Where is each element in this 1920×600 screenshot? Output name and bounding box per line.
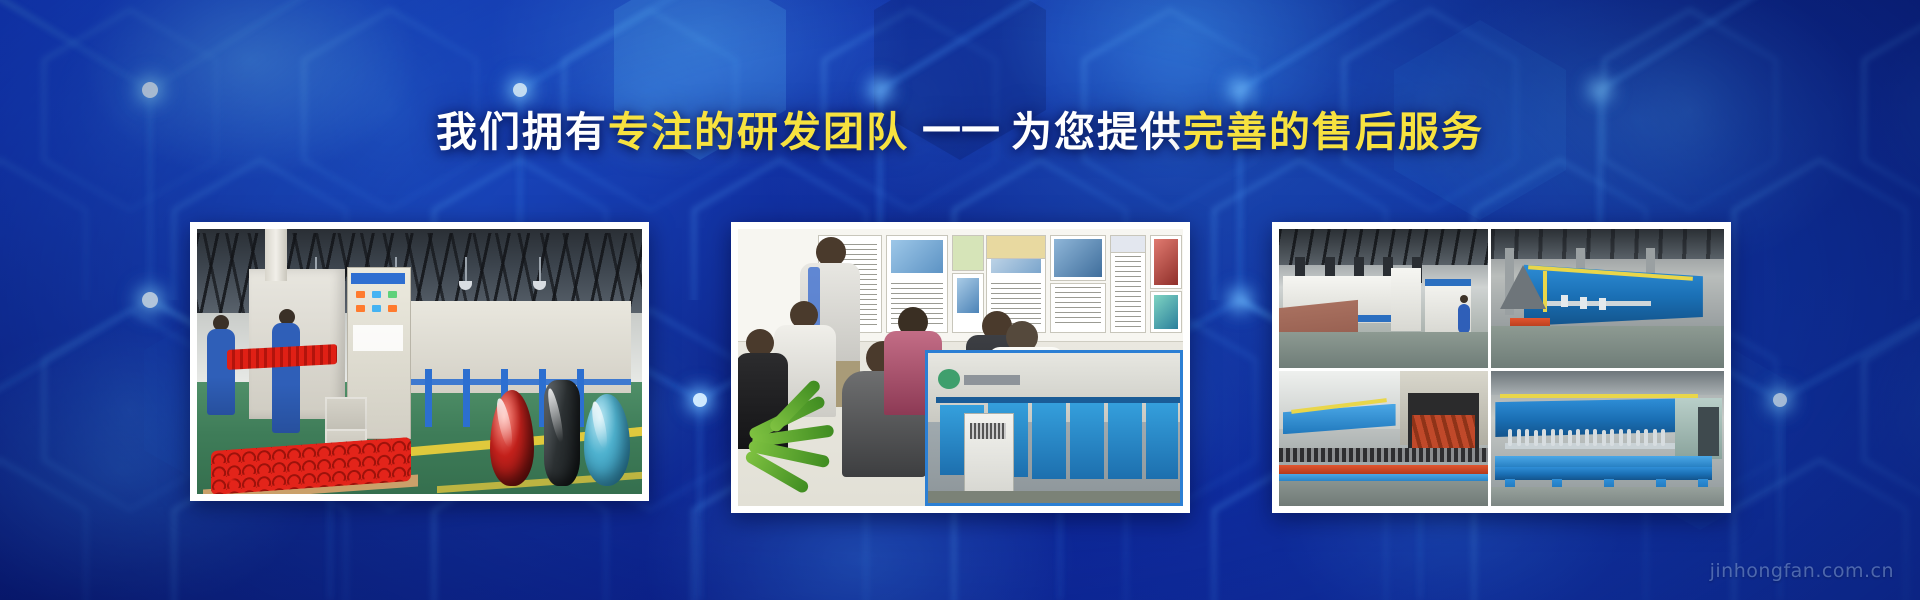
photo-panel-production-line[interactable] [190,222,649,501]
headline-separator: —— [909,101,1011,152]
site-watermark: jinhongfan.com.cn [1710,560,1894,582]
collage-cell-blue-oven [1491,229,1724,368]
photo-panel-row [0,222,1920,513]
promo-banner: 我们拥有专注的研发团队——为您提供完善的售后服务 [0,0,1920,600]
photo-panel-equipment-collage[interactable] [1272,222,1731,513]
banner-headline: 我们拥有专注的研发团队——为您提供完善的售后服务 [0,107,1920,158]
headline-segment-4: 完善的售后服务 [1183,108,1484,156]
photo-equipment-collage [1279,229,1724,506]
vase-dark-icon [544,380,580,486]
photo-production-line [197,229,642,494]
headline-segment-3: 为您提供 [1011,108,1183,156]
photo-customer-meeting [738,229,1183,506]
collage-cell-plating-line [1491,371,1724,507]
photo-panel-customer-meeting[interactable] [731,222,1190,513]
headline-segment-2: 专注的研发团队 [608,108,909,156]
palm-plant-icon [738,386,888,506]
headline-segment-1: 我们拥有 [436,108,608,156]
vase-teal-icon [584,394,630,486]
collage-cell-conveyor [1279,371,1488,507]
collage-cell-workshop-line [1279,229,1488,368]
machinery-inset [925,350,1183,506]
